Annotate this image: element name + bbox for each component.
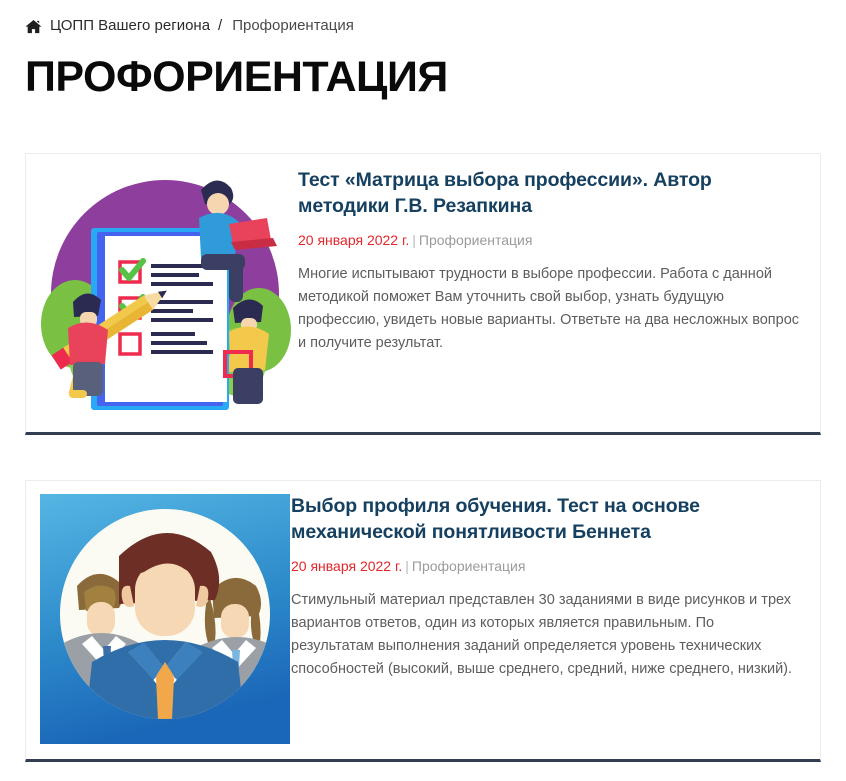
article-card[interactable]: Тест «Матрица выбора профессии». Автор м… xyxy=(25,153,821,435)
card-title[interactable]: Выбор профиля обучения. Тест на основе м… xyxy=(291,494,800,546)
card-media[interactable] xyxy=(26,154,298,427)
business-team-illustration xyxy=(40,494,290,744)
card-body: Выбор профиля обучения. Тест на основе м… xyxy=(291,481,820,705)
breadcrumb: ЦОПП Вашего региона / Профориентация xyxy=(0,0,846,33)
article-list: Тест «Матрица выбора профессии». Автор м… xyxy=(0,153,846,762)
card-excerpt: Стимульный материал представлен 30 задан… xyxy=(291,589,800,681)
card-excerpt: Многие испытывают трудности в выборе про… xyxy=(298,263,800,355)
meta-separator: | xyxy=(405,558,409,574)
clipboard-checklist-illustration xyxy=(33,162,298,427)
card-body: Тест «Матрица выбора профессии». Автор м… xyxy=(298,154,820,379)
card-title[interactable]: Тест «Матрица выбора профессии». Автор м… xyxy=(298,168,800,220)
meta-separator: | xyxy=(412,232,416,248)
card-meta: 20 января 2022 г.|Профориентация xyxy=(298,231,800,249)
card-category[interactable]: Профориентация xyxy=(412,558,526,574)
card-date: 20 января 2022 г. xyxy=(291,558,402,574)
page-title: ПРОФОРИЕНТАЦИЯ xyxy=(25,55,846,100)
breadcrumb-separator: / xyxy=(218,18,222,33)
breadcrumb-root-link[interactable]: ЦОПП Вашего региона xyxy=(50,18,210,33)
home-icon[interactable] xyxy=(25,19,42,34)
card-date: 20 января 2022 г. xyxy=(298,232,409,248)
breadcrumb-current: Профориентация xyxy=(232,18,354,33)
card-category[interactable]: Профориентация xyxy=(419,232,533,248)
article-card[interactable]: Выбор профиля обучения. Тест на основе м… xyxy=(25,480,821,762)
card-media[interactable] xyxy=(26,481,291,744)
card-meta: 20 января 2022 г.|Профориентация xyxy=(291,557,800,575)
